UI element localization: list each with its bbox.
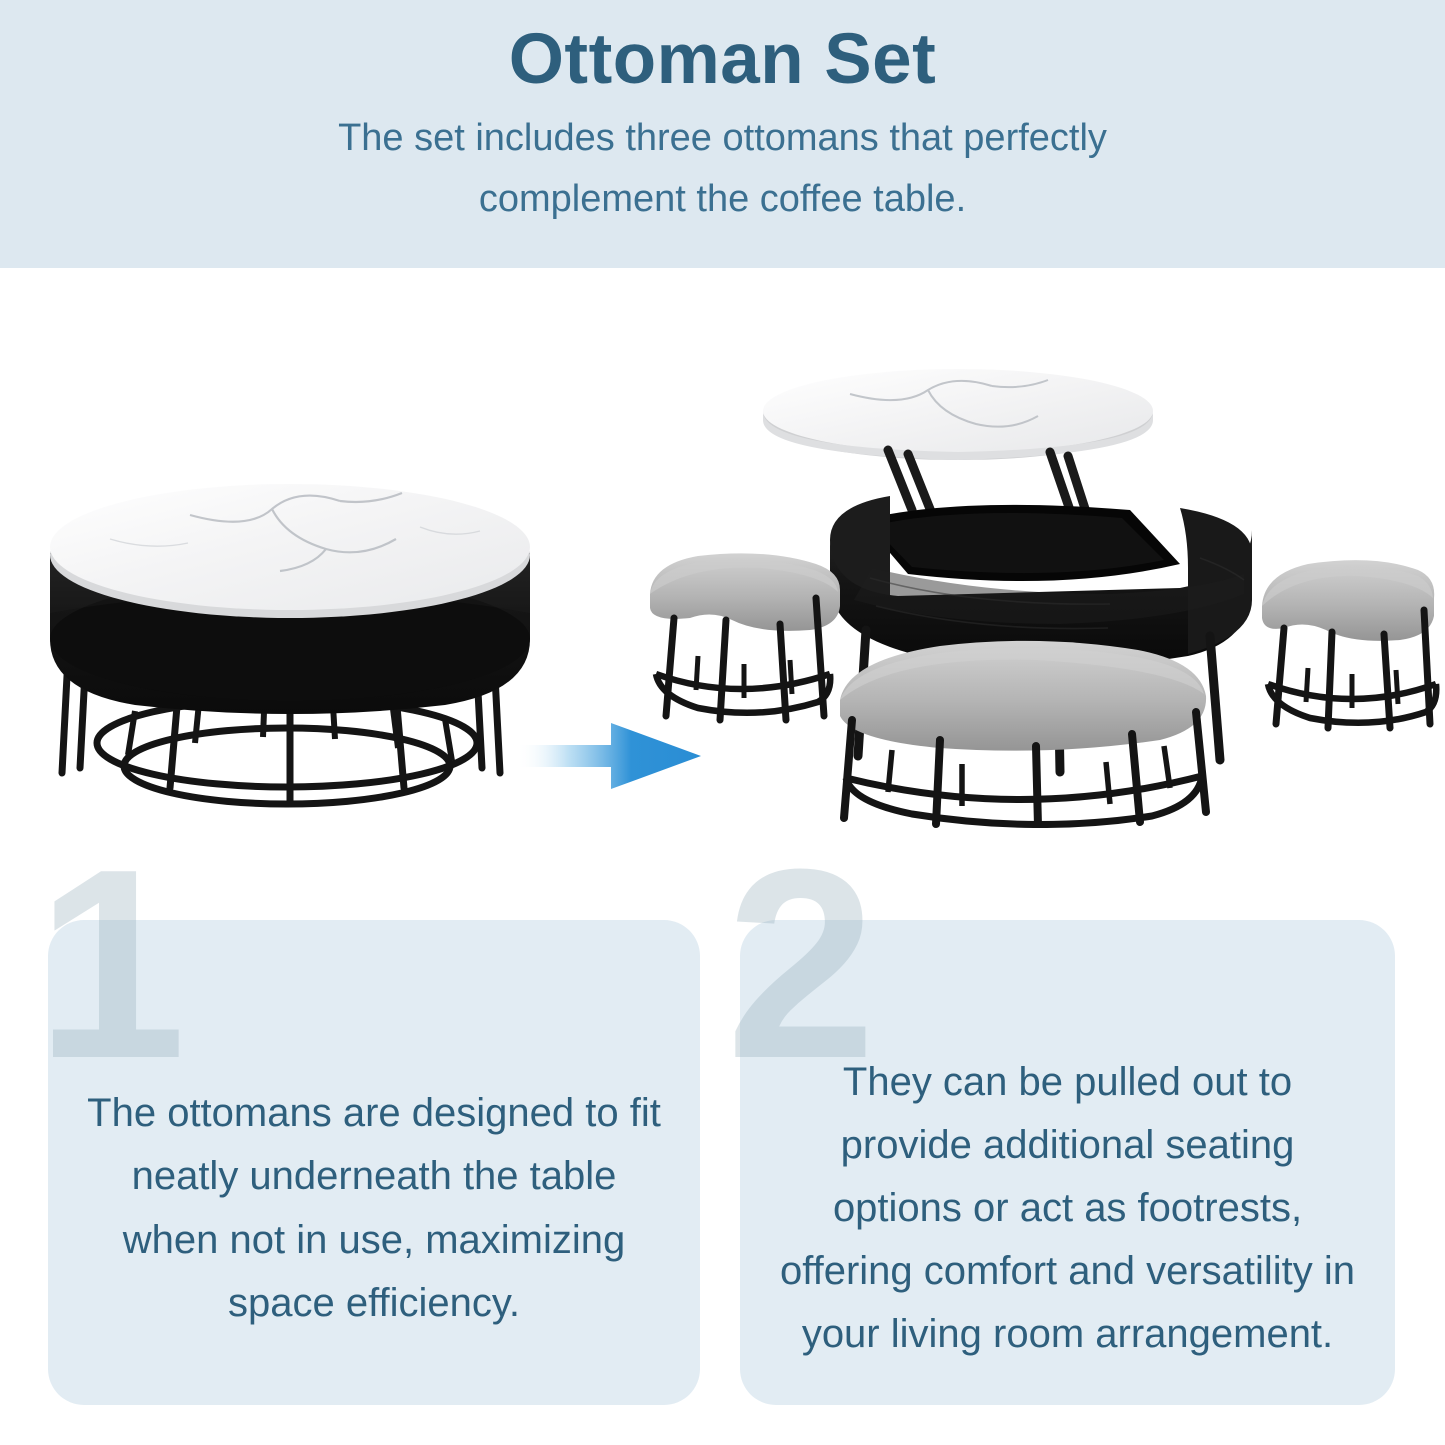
page-title: Ottoman Set xyxy=(0,18,1445,102)
ottoman-left xyxy=(650,553,840,720)
open-storage-cavity xyxy=(862,505,1180,581)
page-subtitle: The set includes three ottomans that per… xyxy=(293,108,1153,231)
ottoman-base-ring xyxy=(846,776,1202,825)
step-card-2-text: They can be pulled out to provide additi… xyxy=(740,1051,1395,1371)
lifted-marble-top xyxy=(763,369,1153,460)
step-card-1-text: The ottomans are designed to fit neatly … xyxy=(48,1082,700,1339)
ottoman-base-spokes xyxy=(696,656,792,698)
step-card-2: They can be pulled out to provide additi… xyxy=(740,920,1395,1405)
step-cards-section: The ottomans are designed to fit neatly … xyxy=(0,838,1445,1445)
product-showcase xyxy=(0,268,1445,838)
step-card-1: The ottomans are designed to fit neatly … xyxy=(48,920,700,1405)
marble-table-top xyxy=(50,484,530,618)
coffee-table-open-image xyxy=(640,368,1440,828)
ottoman-right xyxy=(1262,560,1436,728)
coffee-table-closed-image xyxy=(40,443,540,813)
header-band: Ottoman Set The set includes three ottom… xyxy=(0,0,1445,268)
ottoman-front xyxy=(840,641,1206,826)
